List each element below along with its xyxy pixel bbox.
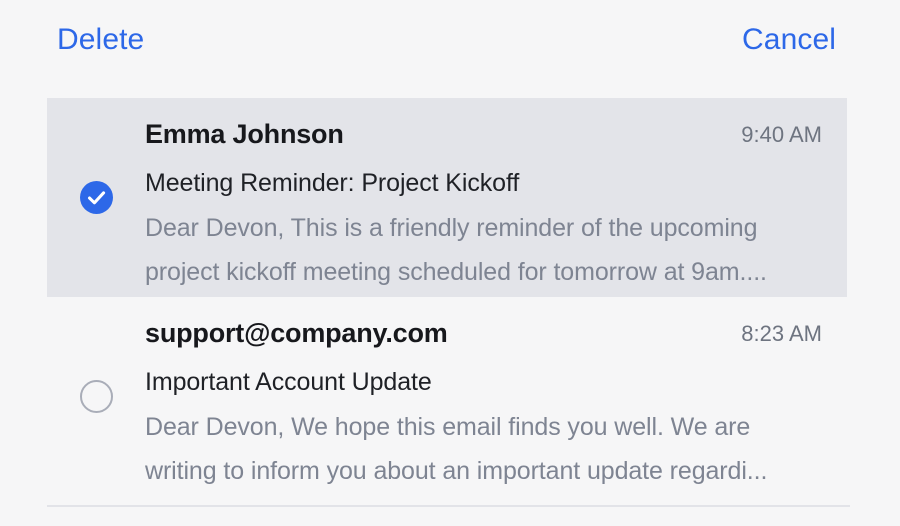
message-preview-line: project kickoff meeting scheduled for to… — [145, 250, 835, 294]
select-checkbox[interactable] — [80, 380, 113, 413]
delete-button[interactable]: Delete — [57, 20, 144, 60]
message-preview: Dear Devon, We hope this email finds you… — [145, 405, 835, 493]
message-subject: Important Account Update — [145, 360, 835, 405]
message-preview: Dear Devon, This is a friendly reminder … — [145, 206, 835, 294]
message-preview-line: writing to inform you about an important… — [145, 449, 835, 493]
edit-mode-toolbar: Delete Cancel — [0, 0, 900, 80]
message-list: Emma Johnson 9:40 AM Meeting Reminder: P… — [0, 98, 900, 496]
message-subject: Meeting Reminder: Project Kickoff — [145, 161, 835, 206]
mail-list-screen: Delete Cancel Emma Johnson 9:40 AM Meeti… — [0, 0, 900, 526]
cancel-button[interactable]: Cancel — [742, 20, 836, 60]
message-content: support@company.com 8:23 AM Important Ac… — [145, 315, 835, 493]
sender-name: support@company.com — [145, 315, 448, 351]
select-checkbox[interactable] — [80, 181, 113, 214]
message-header-line: support@company.com 8:23 AM — [145, 315, 835, 360]
message-list-item[interactable]: Emma Johnson 9:40 AM Meeting Reminder: P… — [0, 98, 900, 297]
message-timestamp: 9:40 AM — [741, 120, 822, 150]
message-header-line: Emma Johnson 9:40 AM — [145, 116, 835, 161]
message-timestamp: 8:23 AM — [741, 319, 822, 349]
message-list-item[interactable]: support@company.com 8:23 AM Important Ac… — [0, 297, 900, 496]
message-content: Emma Johnson 9:40 AM Meeting Reminder: P… — [145, 116, 835, 294]
list-divider — [47, 505, 850, 507]
checkmark-icon — [80, 181, 113, 214]
sender-name: Emma Johnson — [145, 116, 344, 152]
message-preview-line: Dear Devon, We hope this email finds you… — [145, 405, 835, 449]
message-preview-line: Dear Devon, This is a friendly reminder … — [145, 206, 835, 250]
